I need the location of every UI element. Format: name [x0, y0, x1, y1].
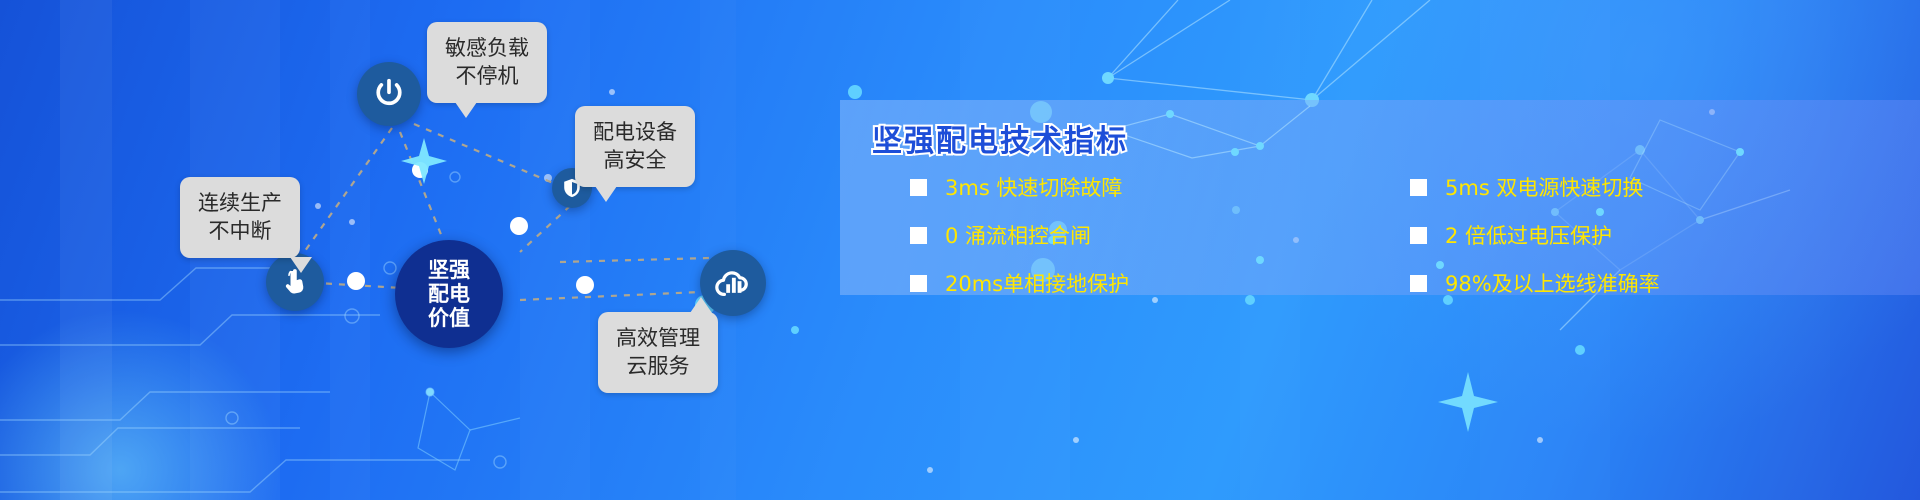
spec-label: 20ms单相接地保护 [945, 268, 1129, 295]
callout-line-1: 高效管理 [616, 324, 700, 352]
bullet-square-icon [910, 275, 927, 292]
spec-item[interactable]: 3ms 快速切除故障 [910, 172, 1400, 202]
power-icon [372, 77, 406, 111]
callout-line-2: 不中断 [198, 217, 282, 245]
callout-line-1: 配电设备 [593, 118, 677, 146]
diagram-hub[interactable]: 坚强 配电 价值 [395, 240, 503, 348]
callout-sensitive-load[interactable]: 敏感负载 不停机 [427, 22, 547, 103]
bullet-square-icon [1410, 227, 1427, 244]
bullet-square-icon [910, 179, 927, 196]
tech-specs-panel: 坚强配电技术指标 3ms 快速切除故障 5ms 双电源快速切换 0 涌流相控合闸… [840, 100, 1920, 295]
cloud-chart-icon [713, 263, 753, 303]
promo-banner: 坚强 配电 价值 敏感负载 不停机 配电设备 高安全 连续生产 不中断 高效管理… [0, 0, 1920, 500]
spec-label: 3ms 快速切除故障 [945, 172, 1122, 202]
callout-line-1: 敏感负载 [445, 34, 529, 62]
bullet-square-icon [1410, 275, 1427, 292]
callout-tail [455, 102, 477, 118]
spec-item[interactable]: 20ms单相接地保护 [910, 268, 1400, 295]
spec-item[interactable]: 2 倍低过电压保护 [1410, 220, 1900, 250]
spec-label: 5ms 双电源快速切换 [1445, 172, 1643, 202]
spec-label: 2 倍低过电压保护 [1445, 220, 1612, 250]
hub-label: 坚强 配电 价值 [428, 258, 470, 330]
specs-title: 坚强配电技术指标 [872, 116, 1128, 160]
callout-tail [290, 257, 312, 273]
callout-line-1: 连续生产 [198, 189, 282, 217]
bullet-square-icon [1410, 179, 1427, 196]
callout-line-2: 高安全 [593, 146, 677, 174]
spec-item[interactable]: 5ms 双电源快速切换 [1410, 172, 1900, 202]
callout-line-2: 云服务 [616, 352, 700, 380]
node-power[interactable] [357, 62, 421, 126]
bullet-square-icon [910, 227, 927, 244]
callout-continuous-production[interactable]: 连续生产 不中断 [180, 177, 300, 258]
callout-tail [595, 186, 617, 202]
spec-label: 0 涌流相控合闸 [945, 220, 1091, 250]
spec-item[interactable]: 0 涌流相控合闸 [910, 220, 1400, 250]
spec-label: 98%及以上选线准确率 [1445, 268, 1660, 295]
callout-device-safety[interactable]: 配电设备 高安全 [575, 106, 695, 187]
spec-item[interactable]: 98%及以上选线准确率 [1410, 268, 1900, 295]
callout-cloud-service[interactable]: 高效管理 云服务 [598, 312, 718, 393]
specs-list: 3ms 快速切除故障 5ms 双电源快速切换 0 涌流相控合闸 2 倍低过电压保… [910, 172, 1900, 295]
callout-line-2: 不停机 [445, 62, 529, 90]
callout-tail [690, 297, 712, 313]
